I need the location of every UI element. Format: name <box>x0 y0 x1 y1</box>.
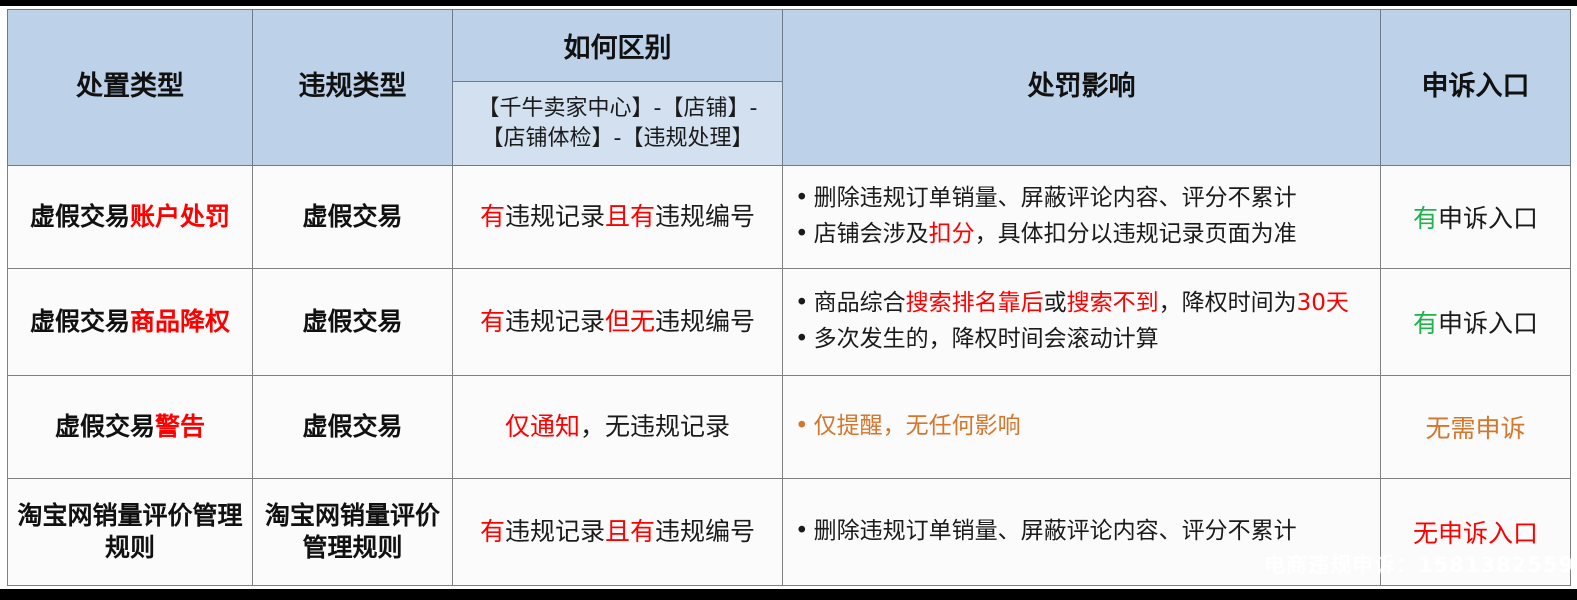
header-row: 处置类型 违规类型 如何区别 处罚影响 申诉入口 <box>8 10 1571 82</box>
text-run-2: 搜索排名靠后 <box>906 290 1044 316</box>
cell-how-to-distinguish: 有违规记录且有违规编号 <box>453 479 783 586</box>
text-run-2: 申诉入口 <box>1438 204 1538 233</box>
text-run-4: 违规编号 <box>655 517 755 546</box>
table-body: 虚假交易账户处罚虚假交易有违规记录且有违规编号•删除违规订单销量、屏蔽评论内容、… <box>8 166 1571 586</box>
text-run-2: 扣分 <box>929 221 975 247</box>
text-run-1: 商品综合 <box>814 290 906 316</box>
impact-bullet-line: •店铺会涉及扣分，具体扣分以违规记录页面为准 <box>795 217 1370 253</box>
cell-how-to-distinguish: 有违规记录且有违规编号 <box>453 166 783 269</box>
header-cell-how-to-distinguish: 如何区别 <box>453 10 783 82</box>
impact-bullet-line: •商品综合搜索排名靠后或搜索不到，降权时间为30天 <box>795 286 1370 322</box>
disposal-type-base: 淘宝网销量评价管理规则 <box>17 501 242 563</box>
text-run-2: 违规记录 <box>505 517 605 546</box>
impact-bullet-line: •多次发生的，降权时间会滚动计算 <box>795 322 1370 358</box>
text-run-1: 有 <box>480 517 505 546</box>
disposal-type-base: 虚假交易 <box>30 307 130 336</box>
disposal-type-accent: 账户处罚 <box>130 202 230 231</box>
text-run-1: 多次发生的，降权时间会滚动计算 <box>814 326 1159 352</box>
text-run-1: 无申诉入口 <box>1413 519 1538 548</box>
header-cell-appeal-entry: 申诉入口 <box>1381 10 1571 166</box>
bullet-dot-icon: • <box>795 409 809 445</box>
text-run-4: 违规编号 <box>655 202 755 231</box>
cell-appeal-entry: 无需申诉 <box>1381 376 1571 479</box>
table-row: 虚假交易警告虚假交易仅通知，无违规记录•仅提醒，无任何影响无需申诉 <box>8 376 1571 479</box>
table-row: 淘宝网销量评价管理规则淘宝网销量评价管理规则有违规记录且有违规编号•删除违规订单… <box>8 479 1571 586</box>
text-run-1: 删除违规订单销量、屏蔽评论内容、评分不累计 <box>814 518 1297 544</box>
header-cell-disposal-type: 处置类型 <box>8 10 253 166</box>
cell-disposal-type: 虚假交易账户处罚 <box>8 166 253 269</box>
text-run-3: 且有 <box>605 202 655 231</box>
disposal-type-accent: 警告 <box>155 412 205 441</box>
text-run-6: 30天 <box>1297 290 1349 316</box>
distinguish-path-line-2: 【店铺体检】-【违规处理】 <box>459 124 776 154</box>
disposal-type-base: 虚假交易 <box>30 202 130 231</box>
cell-penalty-impact: •仅提醒，无任何影响 <box>783 376 1381 479</box>
table-row: 虚假交易商品降权虚假交易有违规记录但无违规编号•商品综合搜索排名靠后或搜索不到，… <box>8 269 1571 376</box>
text-run-3: 或 <box>1044 290 1067 316</box>
impact-bullet-line: •仅提醒，无任何影响 <box>795 409 1370 445</box>
table-row: 虚假交易账户处罚虚假交易有违规记录且有违规编号•删除违规订单销量、屏蔽评论内容、… <box>8 166 1571 269</box>
text-run-1: 仅通知 <box>505 412 580 441</box>
bullet-dot-icon: • <box>795 322 809 358</box>
text-run-2: 违规记录 <box>505 307 605 336</box>
disposal-type-base: 虚假交易 <box>55 412 155 441</box>
bullet-dot-icon: • <box>795 217 809 253</box>
bullet-dot-icon: • <box>795 286 809 322</box>
text-run-2: 违规记录 <box>505 202 605 231</box>
text-run-3: 且有 <box>605 517 655 546</box>
text-run-1: 删除违规订单销量、屏蔽评论内容、评分不累计 <box>814 185 1297 211</box>
cell-violation-type: 虚假交易 <box>253 376 453 479</box>
screenshot-root: 处置类型 违规类型 如何区别 处罚影响 申诉入口 【千牛卖家中心】-【店铺】- … <box>0 0 1577 600</box>
text-run-4: 搜索不到 <box>1067 290 1159 316</box>
header-cell-distinguish-path: 【千牛卖家中心】-【店铺】- 【店铺体检】-【违规处理】 <box>453 82 783 166</box>
bullet-dot-icon: • <box>795 514 809 550</box>
bullet-dot-icon: • <box>795 181 809 217</box>
cell-disposal-type: 淘宝网销量评价管理规则 <box>8 479 253 586</box>
cell-penalty-impact: •商品综合搜索排名靠后或搜索不到，降权时间为30天•多次发生的，降权时间会滚动计… <box>783 269 1381 376</box>
text-run-2: ，无违规记录 <box>580 412 730 441</box>
cell-violation-type: 虚假交易 <box>253 269 453 376</box>
impact-bullet-line: •删除违规订单销量、屏蔽评论内容、评分不累计 <box>795 181 1370 217</box>
cell-violation-type: 虚假交易 <box>253 166 453 269</box>
cell-disposal-type: 虚假交易警告 <box>8 376 253 479</box>
header-cell-violation-type: 违规类型 <box>253 10 453 166</box>
text-run-1: 无需申诉 <box>1425 414 1525 443</box>
cell-disposal-type: 虚假交易商品降权 <box>8 269 253 376</box>
punishment-table: 处置类型 违规类型 如何区别 处罚影响 申诉入口 【千牛卖家中心】-【店铺】- … <box>7 9 1571 586</box>
text-run-1: 仅提醒，无任何影响 <box>814 413 1021 439</box>
cell-appeal-entry: 有申诉入口 <box>1381 269 1571 376</box>
text-run-3: 但无 <box>605 307 655 336</box>
cell-appeal-entry: 无申诉入口 <box>1381 479 1571 586</box>
table-frame: 处置类型 违规类型 如何区别 处罚影响 申诉入口 【千牛卖家中心】-【店铺】- … <box>0 6 1577 589</box>
impact-bullet-line: •删除违规订单销量、屏蔽评论内容、评分不累计 <box>795 514 1370 550</box>
cell-violation-type: 淘宝网销量评价管理规则 <box>253 479 453 586</box>
text-run-4: 违规编号 <box>655 307 755 336</box>
text-run-1: 有 <box>1413 204 1438 233</box>
cell-penalty-impact: •删除违规订单销量、屏蔽评论内容、评分不累计 <box>783 479 1381 586</box>
text-run-1: 有 <box>1413 309 1438 338</box>
cell-how-to-distinguish: 仅通知，无违规记录 <box>453 376 783 479</box>
text-run-1: 店铺会涉及 <box>814 221 929 247</box>
distinguish-path-line-1: 【千牛卖家中心】-【店铺】- <box>459 94 776 124</box>
text-run-3: ，具体扣分以违规记录页面为准 <box>975 221 1297 247</box>
header-cell-penalty-impact: 处罚影响 <box>783 10 1381 166</box>
text-run-1: 有 <box>480 202 505 231</box>
cell-how-to-distinguish: 有违规记录但无违规编号 <box>453 269 783 376</box>
cell-penalty-impact: •删除违规订单销量、屏蔽评论内容、评分不累计•店铺会涉及扣分，具体扣分以违规记录… <box>783 166 1381 269</box>
table-header: 处置类型 违规类型 如何区别 处罚影响 申诉入口 【千牛卖家中心】-【店铺】- … <box>8 10 1571 166</box>
text-run-2: 申诉入口 <box>1438 309 1538 338</box>
text-run-5: ，降权时间为 <box>1159 290 1297 316</box>
disposal-type-accent: 商品降权 <box>130 307 230 336</box>
text-run-1: 有 <box>480 307 505 336</box>
cell-appeal-entry: 有申诉入口 <box>1381 166 1571 269</box>
